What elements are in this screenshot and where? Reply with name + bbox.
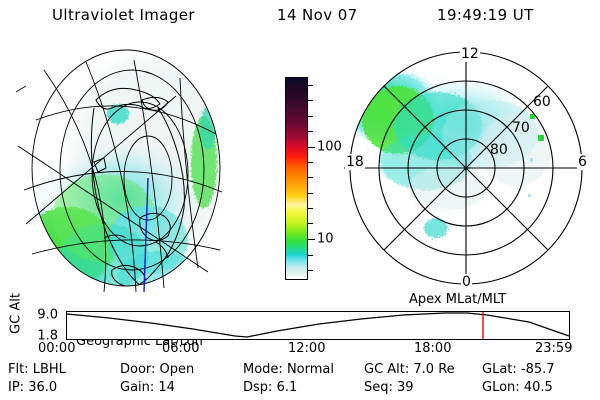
observation-date: 14 Nov 07 [277, 6, 358, 24]
mlat-ring-label-80: 80 [490, 142, 508, 158]
colorbar-scale[interactable] [285, 77, 308, 280]
mlat-ring-label-60: 60 [533, 94, 551, 110]
status-key: Gain: [120, 380, 158, 395]
status-value: 39 [397, 380, 414, 395]
status-footer: Flt: LBHL Door: Open Mode: Normal GC Alt… [0, 362, 600, 400]
geographic-image-panel[interactable]: Geographic Lat/Lon [8, 42, 256, 294]
status-value: Normal [287, 362, 334, 377]
observation-time: 19:49:19 UT [437, 6, 534, 24]
colorbar-major-tick-0 [308, 147, 315, 148]
colorbar-minor-tick-10 [308, 270, 313, 271]
status-value: 36.0 [28, 380, 57, 395]
orbit-xtick-0: 00:00 [38, 341, 75, 356]
geo-corner-tick [16, 86, 26, 92]
status-key: GLat: [482, 362, 521, 377]
colorbar-gradient [286, 78, 307, 279]
orbit-altitude-strip[interactable]: GC Alt 9.0 1.8 00:00 06:00 12:00 18:00 2… [0, 296, 600, 354]
orbit-plot-area [66, 311, 570, 340]
colorbar-group: photon cm-2s-1 10010 [255, 60, 340, 295]
colorbar-minor-tick-5 [308, 177, 313, 178]
colorbar-minor-tick-9 [308, 255, 313, 256]
status-gain: Gain: 14 [120, 380, 175, 395]
orbit-xtick-3: 18:00 [414, 341, 451, 356]
status-key: Door: [120, 362, 160, 377]
orbit-xtick-4: 23:59 [535, 341, 572, 356]
status-gcalt: GC Alt: 7.0 Re [364, 362, 455, 377]
orbit-xtick-2: 12:00 [288, 341, 325, 356]
status-value: -85.7 [521, 362, 555, 377]
status-key: IP: [8, 380, 28, 395]
polar-mlt-projection [340, 42, 592, 294]
colorbar-minor-tick-8 [308, 223, 313, 224]
mlt-label-18: 18 [345, 154, 365, 170]
mlt-label-6: 6 [577, 154, 588, 170]
orbit-altitude-curve [67, 312, 569, 339]
status-glon: GLon: 40.5 [482, 380, 553, 395]
geo-aurora-image [8, 50, 224, 303]
orbit-ytick-high: 9.0 [22, 308, 58, 323]
colorbar-minor-tick-6 [308, 193, 313, 194]
status-ip: IP: 36.0 [8, 380, 57, 395]
colorbar-minor-tick-1 [308, 100, 313, 101]
colorbar-minor-tick-3 [308, 131, 313, 132]
colorbar-minor-tick-4 [308, 162, 313, 163]
colorbar-minor-tick-2 [308, 116, 313, 117]
status-key: GLon: [482, 380, 524, 395]
mlat-ring-label-70: 70 [512, 120, 530, 136]
header-bar: Ultraviolet Imager 14 Nov 07 19:49:19 UT [0, 6, 600, 32]
status-value: Open [160, 362, 195, 377]
instrument-title: Ultraviolet Imager [52, 6, 195, 24]
status-value: 7.0 Re [413, 362, 454, 377]
status-row-1: Flt: LBHL Door: Open Mode: Normal GC Alt… [0, 362, 600, 380]
status-value: 14 [158, 380, 175, 395]
polar-grid [344, 46, 588, 290]
status-value: 6.1 [277, 380, 298, 395]
geographic-projection [8, 42, 256, 294]
status-seq: Seq: 39 [364, 380, 414, 395]
status-key: Seq: [364, 380, 397, 395]
status-door: Door: Open [120, 362, 194, 377]
mlt-label-0: 0 [461, 274, 472, 290]
status-value: LBHL [33, 362, 66, 377]
colorbar-tick-label-10: 10 [317, 232, 334, 247]
orbit-xtick-1: 06:00 [162, 341, 199, 356]
status-mode: Mode: Normal [243, 362, 334, 377]
colorbar-minor-tick-0 [308, 85, 313, 86]
colorbar-minor-tick-7 [308, 208, 313, 209]
status-key: Mode: [243, 362, 287, 377]
colorbar-tick-label-100: 100 [317, 140, 342, 155]
status-key: GC Alt: [364, 362, 413, 377]
mlt-label-12: 12 [460, 46, 480, 62]
status-row-2: IP: 36.0 Gain: 14 Dsp: 6.1 Seq: 39 GLon:… [0, 380, 600, 398]
status-dsp: Dsp: 6.1 [243, 380, 297, 395]
status-key: Flt: [8, 362, 33, 377]
status-flt: Flt: LBHL [8, 362, 66, 377]
status-glat: GLat: -85.7 [482, 362, 555, 377]
status-key: Dsp: [243, 380, 277, 395]
colorbar-major-tick-1 [308, 239, 315, 240]
status-value: 40.5 [524, 380, 553, 395]
polar-dial-panel[interactable]: 12 18 6 0 60 70 80 Apex MLat/MLT [340, 42, 592, 294]
